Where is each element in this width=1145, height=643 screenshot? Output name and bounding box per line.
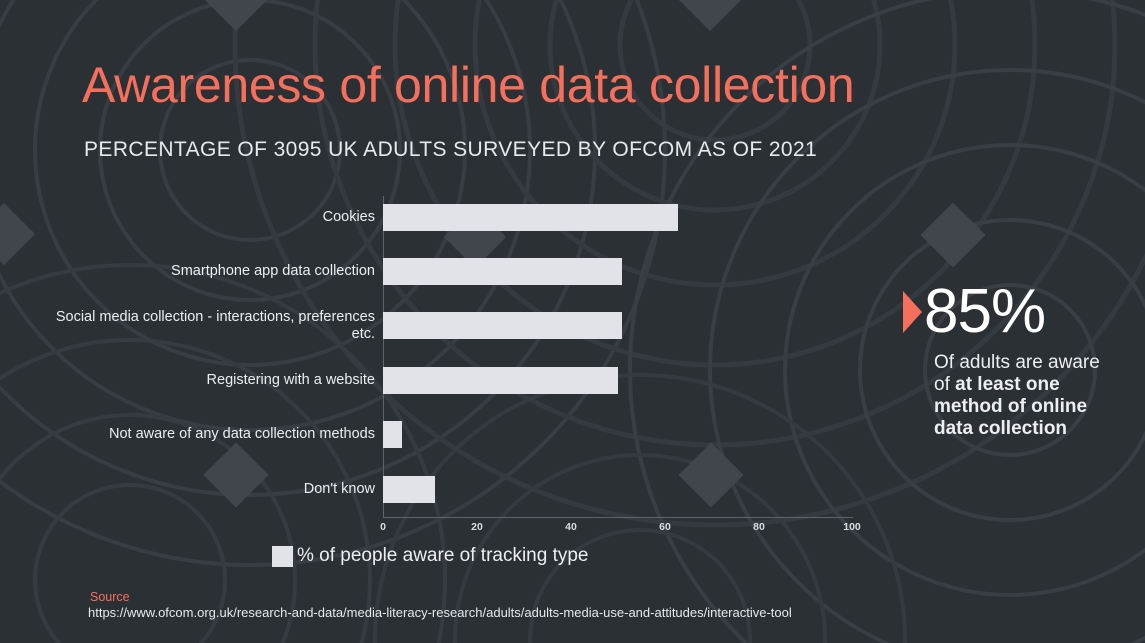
x-tick-20: 20	[471, 521, 483, 533]
triangle-marker-icon	[903, 291, 922, 333]
stat-description-bold: at least one method of online data colle…	[934, 374, 1087, 439]
bar-cookies	[383, 204, 678, 231]
x-axis-line	[383, 517, 853, 518]
category-label-2: Social media collection - interactions, …	[45, 309, 375, 343]
x-tick-60: 60	[659, 521, 671, 533]
bar-registering	[383, 367, 618, 394]
x-tick-0: 0	[380, 521, 386, 533]
legend-swatch-icon	[272, 546, 293, 567]
bar-smartphone-app	[383, 258, 622, 285]
category-label-3: Registering with a website	[45, 372, 375, 389]
stat-callout: 85% Of adults are aware of at least one …	[903, 280, 1109, 440]
category-label-4: Not aware of any data collection methods	[45, 426, 375, 443]
stat-description: Of adults are aware of at least one meth…	[934, 352, 1109, 440]
x-tick-40: 40	[565, 521, 577, 533]
bar-dont-know	[383, 476, 435, 503]
legend-label: % of people aware of tracking type	[297, 545, 589, 567]
category-label-0: Cookies	[45, 209, 375, 226]
chart-legend: % of people aware of tracking type	[272, 545, 589, 567]
category-label-5: Don't know	[45, 481, 375, 498]
stat-value: 85%	[924, 280, 1045, 344]
category-label-1: Smartphone app data collection	[45, 263, 375, 280]
source-url[interactable]: https://www.ofcom.org.uk/research-and-da…	[88, 606, 818, 620]
bar-social-media	[383, 312, 622, 339]
bar-not-aware	[383, 421, 402, 448]
source-label: Source	[90, 590, 130, 604]
x-tick-100: 100	[843, 521, 861, 533]
infographic-slide: Awareness of online data collection PERC…	[0, 0, 1145, 643]
y-axis-line	[383, 196, 384, 517]
x-tick-80: 80	[753, 521, 765, 533]
